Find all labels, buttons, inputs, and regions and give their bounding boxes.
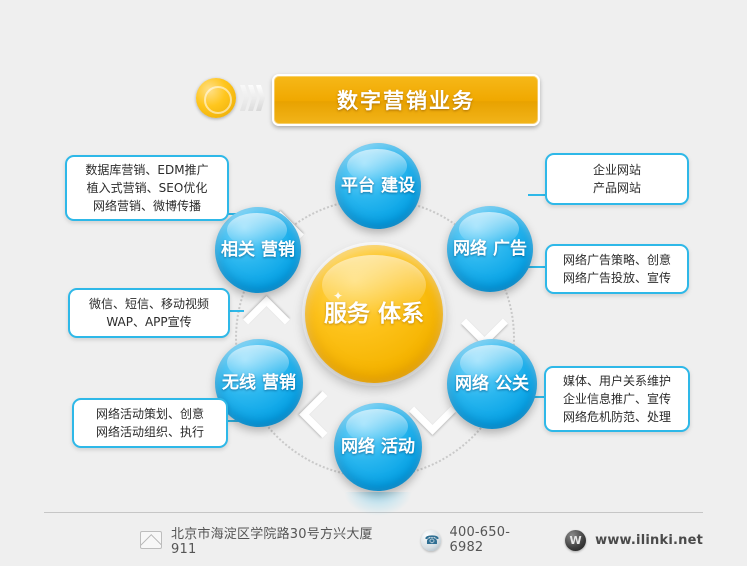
node-wireless[interactable]: 无线 营销 xyxy=(215,339,303,427)
node-wireless-label: 无线 营销 xyxy=(222,373,296,393)
sparkle-icon: ✦ xyxy=(333,289,344,300)
footer-website-text: www.ilinki.net xyxy=(595,533,703,548)
callout-related-text: 数据库营销、EDM推广 植入式营销、SEO优化 网络营销、微博传播 xyxy=(76,156,217,221)
footer-phone: 400-650-6982 xyxy=(421,525,535,555)
callout-pr-text: 媒体、用户关系维护 企业信息推广、宣传 网络危机防范、处理 xyxy=(554,367,680,432)
node-pr[interactable]: 网络 公关 xyxy=(447,339,537,429)
callout-ads-detail[interactable]: 网络广告策略、创意 网络广告投放、宣传 xyxy=(545,244,689,294)
node-platform[interactable]: 平台 建设 xyxy=(335,143,421,229)
header-banner: 数字营销业务 xyxy=(196,74,536,122)
callout-pr-detail[interactable]: 媒体、用户关系维护 企业信息推广、宣传 网络危机防范、处理 xyxy=(544,366,690,432)
center-hub-label: 服务 体系 xyxy=(324,300,424,328)
callout-platform-text: 企业网站 产品网站 xyxy=(584,156,650,202)
phone-icon xyxy=(421,530,440,551)
callout-events-text: 网络活动策划、创意 网络活动组织、执行 xyxy=(87,400,213,446)
node-ads-label: 网络 广告 xyxy=(453,239,527,259)
footer-website[interactable]: www.ilinki.net xyxy=(565,530,703,551)
footer-phone-text: 400-650-6982 xyxy=(450,525,536,555)
page-title: 数字营销业务 xyxy=(337,85,475,115)
footer-address: 北京市海淀区学院路30号方兴大厦911 xyxy=(140,523,377,557)
globe-icon xyxy=(565,530,586,551)
node-related-label: 相关 营销 xyxy=(221,240,295,260)
mail-icon xyxy=(140,531,162,549)
node-ads[interactable]: 网络 广告 xyxy=(447,206,533,292)
callout-events-detail[interactable]: 网络活动策划、创意 网络活动组织、执行 xyxy=(72,398,228,448)
callout-related-detail[interactable]: 数据库营销、EDM推广 植入式营销、SEO优化 网络营销、微博传播 xyxy=(65,155,229,221)
infographic-canvas: 数字营销业务 ✦ 服务 体系 平台 建设 网络 广告 网络 公关 网络 活动 无… xyxy=(0,0,747,566)
node-events-label: 网络 活动 xyxy=(341,437,415,457)
callout-wireless-detail[interactable]: 微信、短信、移动视频 WAP、APP宣传 xyxy=(68,288,230,338)
node-reflection xyxy=(344,492,412,516)
callout-wireless-text: 微信、短信、移动视频 WAP、APP宣传 xyxy=(80,290,218,336)
footer-bar: 北京市海淀区学院路30号方兴大厦911 400-650-6982 www.ili… xyxy=(44,520,703,560)
node-platform-label: 平台 建设 xyxy=(341,176,415,196)
node-events[interactable]: 网络 活动 xyxy=(334,403,422,491)
node-pr-label: 网络 公关 xyxy=(455,374,529,394)
callout-platform-detail[interactable]: 企业网站 产品网站 xyxy=(545,153,689,205)
double-chevron-right-icon xyxy=(240,85,268,111)
banner-plate: 数字营销业务 xyxy=(272,74,540,126)
center-hub-service-system[interactable]: ✦ 服务 体系 xyxy=(305,245,443,383)
footer-address-text: 北京市海淀区学院路30号方兴大厦911 xyxy=(171,523,377,557)
coin-icon xyxy=(196,78,236,118)
node-related[interactable]: 相关 营销 xyxy=(215,207,301,293)
callout-ads-text: 网络广告策略、创意 网络广告投放、宣传 xyxy=(554,246,680,292)
